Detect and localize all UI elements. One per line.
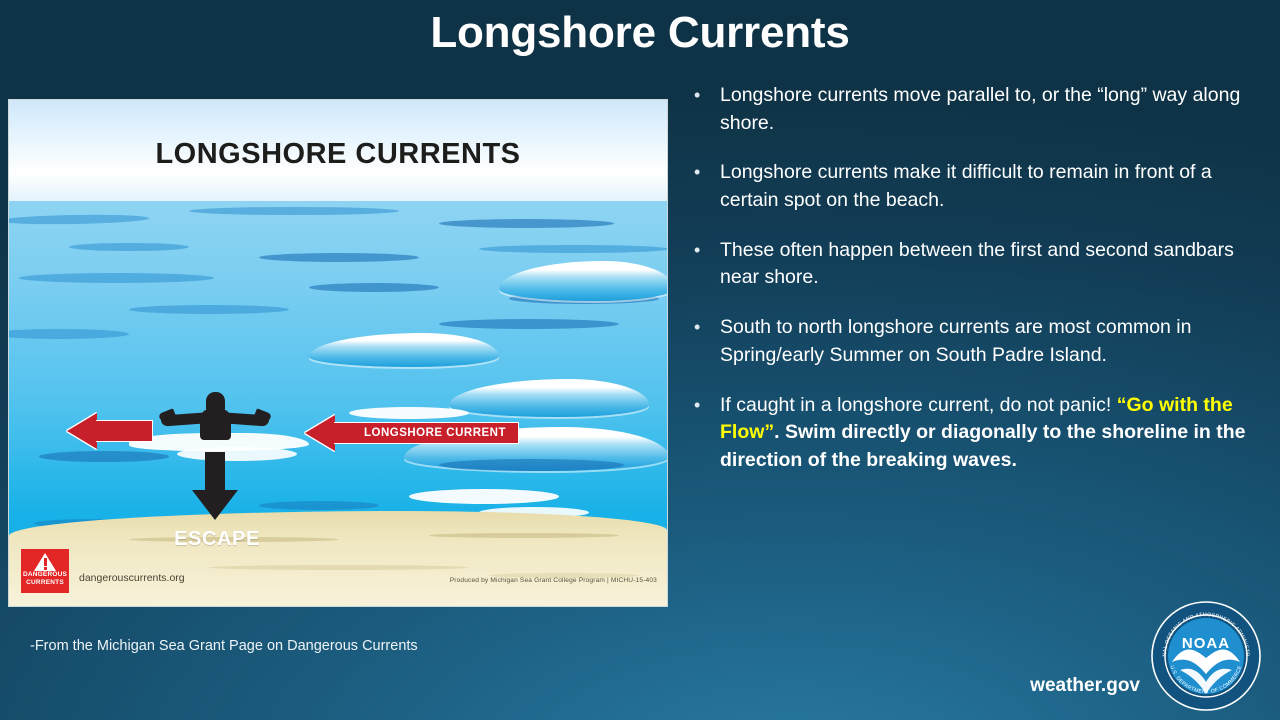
dangerous-currents-url[interactable]: dangerouscurrents.org xyxy=(79,572,185,584)
water-streak xyxy=(69,243,189,251)
water-streak xyxy=(439,319,619,329)
water-streak xyxy=(309,283,439,292)
bullet-marker: • xyxy=(690,237,720,292)
bullet-item: • Longshore currents make it difficult t… xyxy=(690,159,1260,214)
water-streak xyxy=(439,219,614,228)
illustration-credit: Produced by Michigan Sea Grant College P… xyxy=(450,577,657,584)
water-streak xyxy=(439,459,624,471)
swimmer-silhouette-icon xyxy=(159,392,271,440)
wave-foam xyxy=(409,489,559,504)
bullet-tail: . Swim directly or diagonally to the sho… xyxy=(720,421,1246,471)
warning-triangle-icon xyxy=(34,553,56,571)
weather-gov-label[interactable]: weather.gov xyxy=(1030,675,1140,697)
bullet-marker: • xyxy=(690,82,720,137)
bullet-marker: • xyxy=(690,159,720,214)
longshore-current-arrow-label: LONGSHORE CURRENT xyxy=(351,422,519,444)
bullet-item: • If caught in a longshore current, do n… xyxy=(690,392,1260,475)
bullet-text: These often happen between the first and… xyxy=(720,237,1260,292)
escape-arrow-icon xyxy=(192,452,238,520)
bullet-list: • Longshore currents move parallel to, o… xyxy=(690,82,1260,497)
breaking-wave xyxy=(449,379,649,417)
bullet-marker: • xyxy=(690,314,720,369)
water-streak xyxy=(259,501,379,510)
page-title: Longshore Currents xyxy=(0,10,1280,56)
water-streak xyxy=(19,273,214,283)
illustration-sky: LONGSHORE CURRENTS xyxy=(9,100,667,201)
noaa-logo: NOAA NATIONAL OCEANIC AND ATMOSPHERIC AD… xyxy=(1150,600,1262,712)
water-streak xyxy=(8,329,129,339)
water-streak xyxy=(259,253,419,262)
escape-label: ESCAPE xyxy=(157,528,277,551)
longshore-current-arrow: LONGSHORE CURRENT xyxy=(305,415,519,447)
dangerous-currents-badge: DANGEROUS CURRENTS xyxy=(21,549,69,593)
water-streak xyxy=(39,451,169,462)
sand-streak xyxy=(429,533,619,538)
bullet-text: If caught in a longshore current, do not… xyxy=(720,392,1260,475)
water-streak xyxy=(189,207,399,215)
slide-canvas: Longshore Currents LONGSHORE CURRENTS xyxy=(0,0,1280,720)
bullet-item: • These often happen between the first a… xyxy=(690,237,1260,292)
bullet-item: • Longshore currents move parallel to, o… xyxy=(690,82,1260,137)
bullet-text: Longshore currents move parallel to, or … xyxy=(720,82,1260,137)
illustration-heading: LONGSHORE CURRENTS xyxy=(9,138,667,171)
bullet-lead: If caught in a longshore current, do not… xyxy=(720,394,1117,416)
bullet-item: • South to north longshore currents are … xyxy=(690,314,1260,369)
breaking-wave xyxy=(499,261,668,301)
longshore-direction-arrow-icon xyxy=(67,413,153,449)
bullet-text: South to north longshore currents are mo… xyxy=(720,314,1260,369)
badge-line2: CURRENTS xyxy=(26,579,64,587)
bullet-marker: • xyxy=(690,392,720,475)
breaking-wave xyxy=(309,333,499,367)
noaa-center-text: NOAA xyxy=(1182,635,1230,652)
water-streak xyxy=(479,245,668,253)
illustration-beach xyxy=(9,511,667,606)
badge-line1: DANGEROUS xyxy=(23,571,67,579)
longshore-current-illustration: LONGSHORE CURRENTS xyxy=(8,99,668,607)
sand-streak xyxy=(209,565,469,570)
water-streak xyxy=(129,305,289,314)
bullet-text: Longshore currents make it difficult to … xyxy=(720,159,1260,214)
source-caption: -From the Michigan Sea Grant Page on Dan… xyxy=(30,638,418,654)
water-streak xyxy=(8,214,149,226)
